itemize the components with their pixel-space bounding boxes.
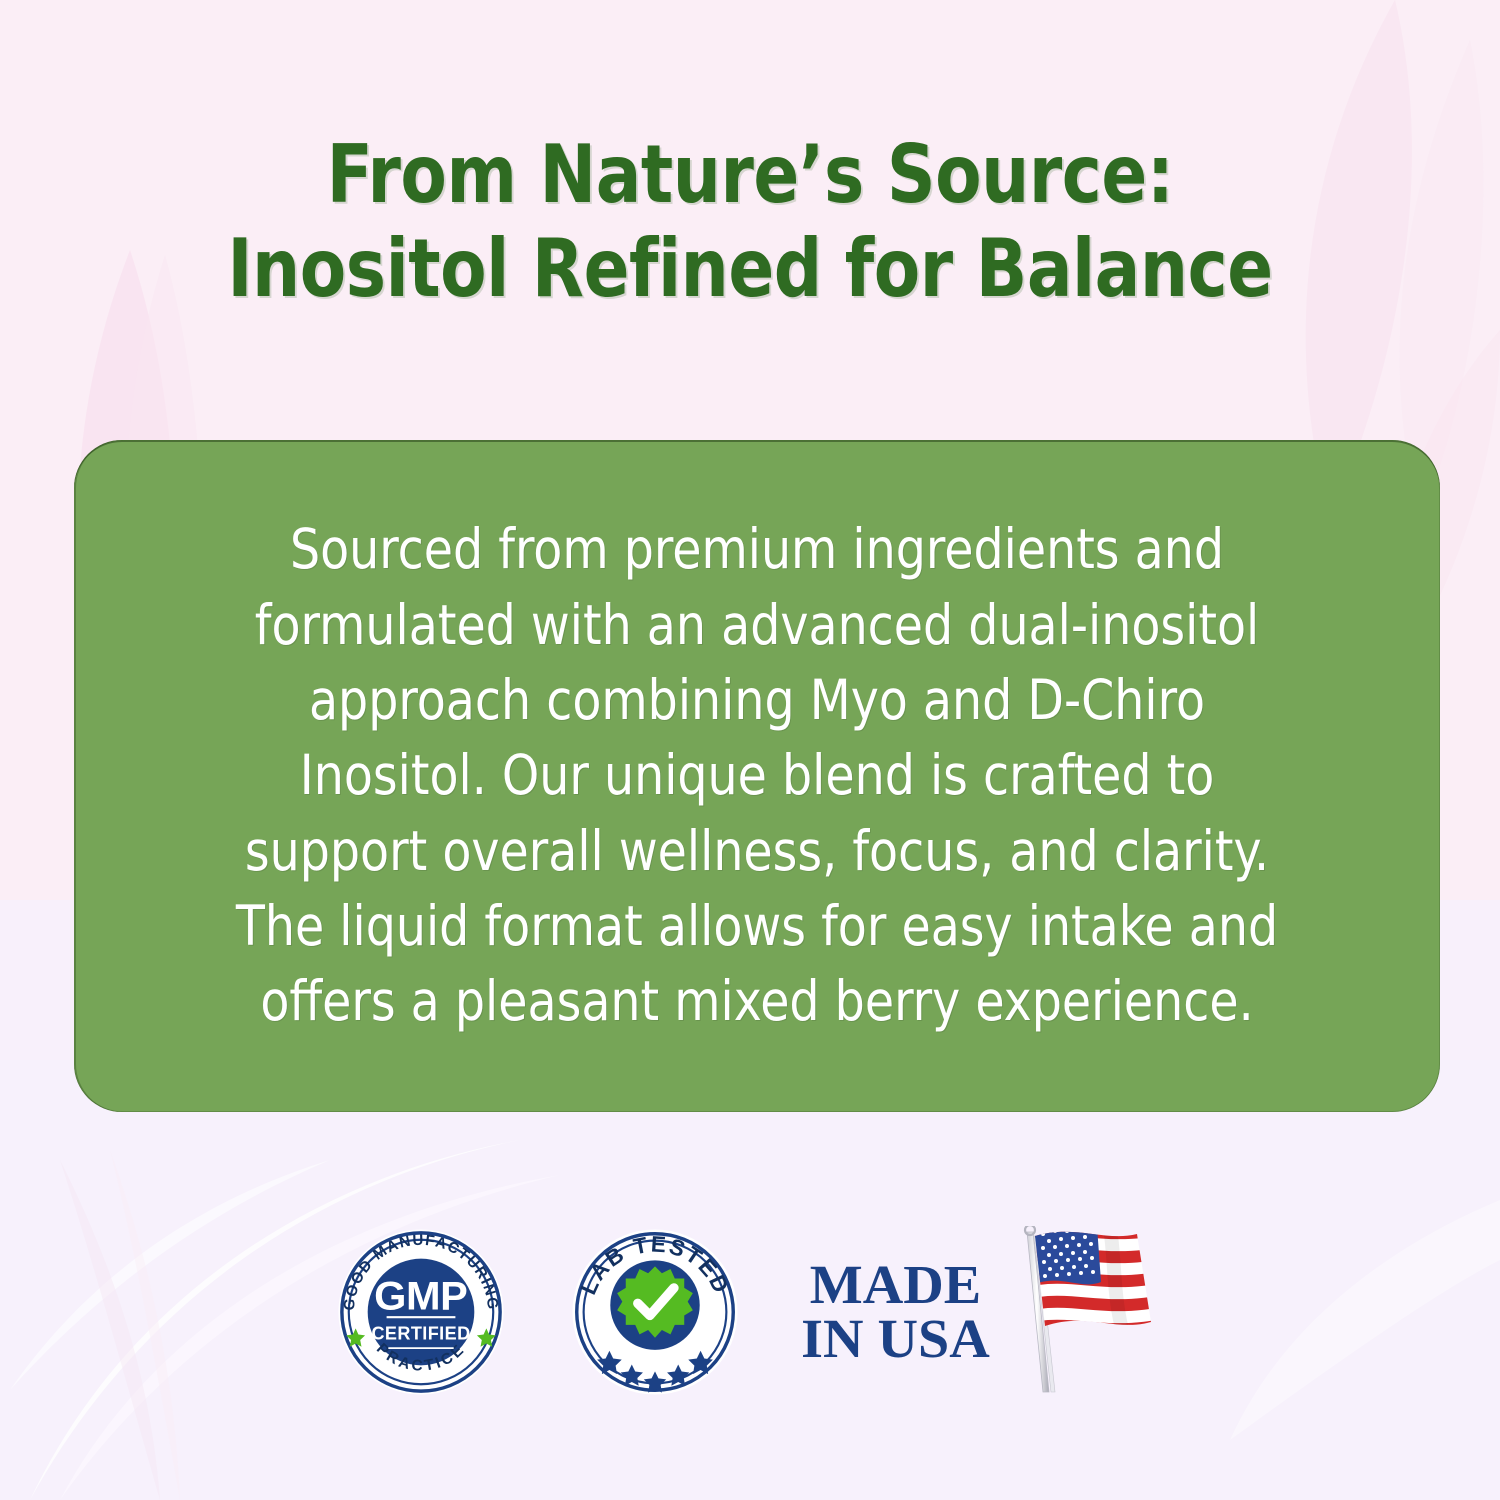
made-in-usa-badge: MADE IN USA — [803, 1226, 1166, 1398]
gmp-center-line-2: CERTIFIED — [371, 1324, 470, 1344]
made-in-usa-line-2: IN USA — [801, 1312, 990, 1366]
page-title: From Nature’s Source: Inositol Refined f… — [45, 128, 1455, 317]
description-card: Sourced from premium ingredients and for… — [74, 440, 1440, 1112]
description-line: support overall wellness, focus, and cla… — [162, 814, 1352, 889]
description-line: Inositol. Our unique blend is crafted to — [162, 738, 1352, 813]
description-line: approach combining Myo and D-Chiro — [162, 663, 1352, 738]
description-line: Sourced from premium ingredients and — [162, 512, 1352, 587]
description-line: offers a pleasant mixed berry experience… — [162, 964, 1352, 1039]
made-in-usa-text: MADE IN USA — [801, 1258, 990, 1366]
page-title-line-2: Inositol Refined for Balance — [45, 222, 1455, 316]
trust-badges-row: GOOD MANUFACTURING PRACTICE GMP CERTIFIE… — [0, 1222, 1500, 1402]
gmp-certified-badge-icon: GOOD MANUFACTURING PRACTICE GMP CERTIFIE… — [335, 1226, 507, 1398]
page-title-line-1: From Nature’s Source: — [45, 128, 1455, 222]
gmp-center-line-1: GMP — [374, 1273, 467, 1318]
description-line: The liquid format allows for easy intake… — [162, 889, 1352, 964]
usa-flag-icon — [1005, 1226, 1165, 1398]
made-in-usa-line-1: MADE — [801, 1258, 990, 1312]
description-line: formulated with an advanced dual-inosito… — [162, 588, 1352, 663]
lab-tested-badge-icon: LAB TESTED — [569, 1226, 741, 1398]
description-text: Sourced from premium ingredients and for… — [162, 512, 1352, 1039]
